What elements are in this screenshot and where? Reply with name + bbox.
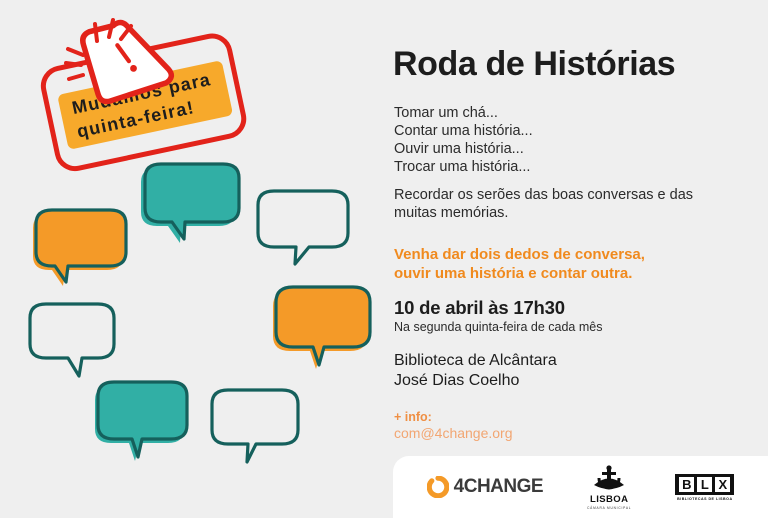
logo-lisboa-text: LISBOA xyxy=(590,494,628,505)
venue-line-1: Biblioteca de Alcântara xyxy=(394,351,557,371)
logo-4change-text: 4CHANGE xyxy=(454,476,543,498)
intro-line-3: Ouvir uma história... xyxy=(394,140,533,158)
speech-bubble-illustration: Mudámos para quinta-feira! xyxy=(0,0,390,518)
logo-blx[interactable]: B L X BIBLIOTECAS DE LISBOA xyxy=(675,474,734,501)
logo-lisboa-subtitle: CÂMARA MUNICIPAL xyxy=(587,506,631,510)
poster-canvas: Mudámos para quinta-feira! Roda de Histó… xyxy=(0,0,768,518)
bubble-outline-top-right xyxy=(258,191,348,264)
blx-letter-x: X xyxy=(715,477,730,492)
intro-line-4: Trocar uma história... xyxy=(394,158,533,176)
footer-panel: 4CHANGE LISBOA CÂMARA MUNICIPAL B L X xyxy=(393,456,768,518)
logo-row: 4CHANGE LISBOA CÂMARA MUNICIPAL B L X xyxy=(393,456,768,518)
logo-4change[interactable]: 4CHANGE xyxy=(427,476,543,498)
logo-lisboa[interactable]: LISBOA CÂMARA MUNICIPAL xyxy=(587,465,631,510)
blx-subtitle: BIBLIOTECAS DE LISBOA xyxy=(677,497,732,501)
callout-line-2: ouvir uma história e contar outra. xyxy=(394,264,744,283)
event-recurrence-note: Na segunda quinta-feira de cada mês xyxy=(394,320,602,334)
intro-line-1: Tomar um chá... xyxy=(394,104,533,122)
bubble-teal-bottom xyxy=(95,382,187,461)
venue-line-2: José Dias Coelho xyxy=(394,371,557,391)
callout-text: Venha dar dois dedos de conversa, ouvir … xyxy=(394,245,744,283)
poster-content: Roda de Histórias Tomar um chá... Contar… xyxy=(393,0,768,518)
page-title: Roda de Histórias xyxy=(393,47,675,81)
ring-icon xyxy=(427,476,449,498)
bubble-orange-left xyxy=(33,210,126,286)
more-info-label: + info: xyxy=(394,410,432,424)
intro-line-2: Contar uma história... xyxy=(394,122,533,140)
event-date: 10 de abril às 17h30 xyxy=(394,297,565,319)
blx-letters-box: B L X xyxy=(675,474,734,495)
recall-text: Recordar os serões das boas conversas e … xyxy=(394,186,739,222)
venue-name: Biblioteca de Alcântara José Dias Coelho xyxy=(394,351,557,391)
blx-letter-l: L xyxy=(697,477,712,492)
contact-email[interactable]: com@4change.org xyxy=(394,425,513,441)
lisboa-crest-icon xyxy=(590,465,628,493)
intro-lines: Tomar um chá... Contar uma história... O… xyxy=(394,104,533,176)
bubble-outline-left xyxy=(30,304,114,376)
bubble-teal-top xyxy=(141,164,239,243)
callout-line-1: Venha dar dois dedos de conversa, xyxy=(394,245,744,264)
bubble-outline-bottom-right xyxy=(212,390,298,462)
blx-letter-b: B xyxy=(679,477,694,492)
bubble-orange-right xyxy=(273,287,370,369)
